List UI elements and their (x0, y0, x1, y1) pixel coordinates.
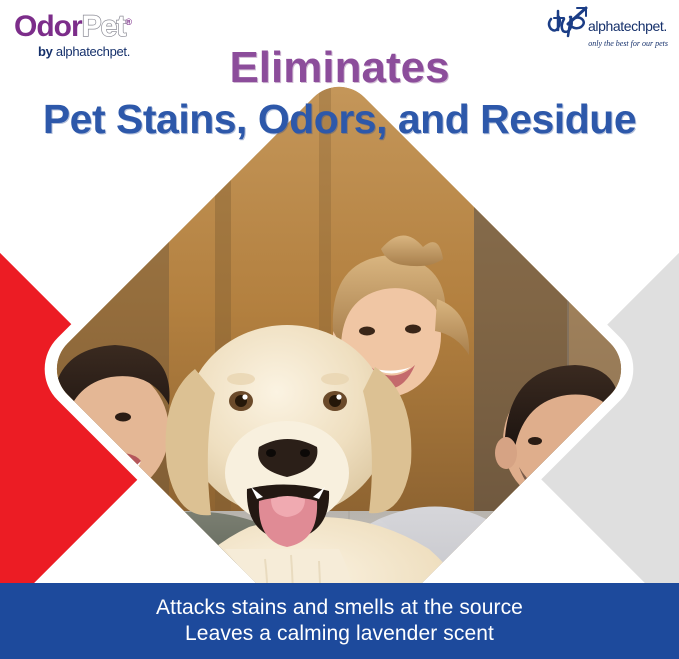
headline-block: Eliminates Pet Stains, Odors, and Residu… (0, 44, 679, 142)
advertisement-banner: OdorPet® by alphatechpet. (0, 0, 679, 659)
headline-primary: Eliminates (0, 44, 679, 92)
alphatechpet-logo-name: alphatechpet. (588, 19, 667, 38)
benefit-line-1: Attacks stains and smells at the source (156, 595, 523, 621)
bottom-benefits-banner: Attacks stains and smells at the source … (0, 583, 679, 659)
benefit-line-2: Leaves a calming lavender scent (185, 621, 494, 647)
atp-script-mark-icon (546, 4, 588, 38)
ad-header: OdorPet® by alphatechpet. (0, 0, 679, 150)
alphatechpet-logo: alphatechpet. only the best for our pets (546, 4, 671, 46)
odorpet-logo-odor-text: Odor (14, 10, 82, 43)
registered-trademark-icon: ® (125, 17, 131, 27)
alphatechpet-logo-row: alphatechpet. (546, 4, 671, 38)
odorpet-logo-pet-text: Pet (82, 10, 126, 43)
headline-secondary: Pet Stains, Odors, and Residue (0, 96, 679, 142)
odorpet-logo-wordmark: OdorPet® (14, 6, 164, 43)
